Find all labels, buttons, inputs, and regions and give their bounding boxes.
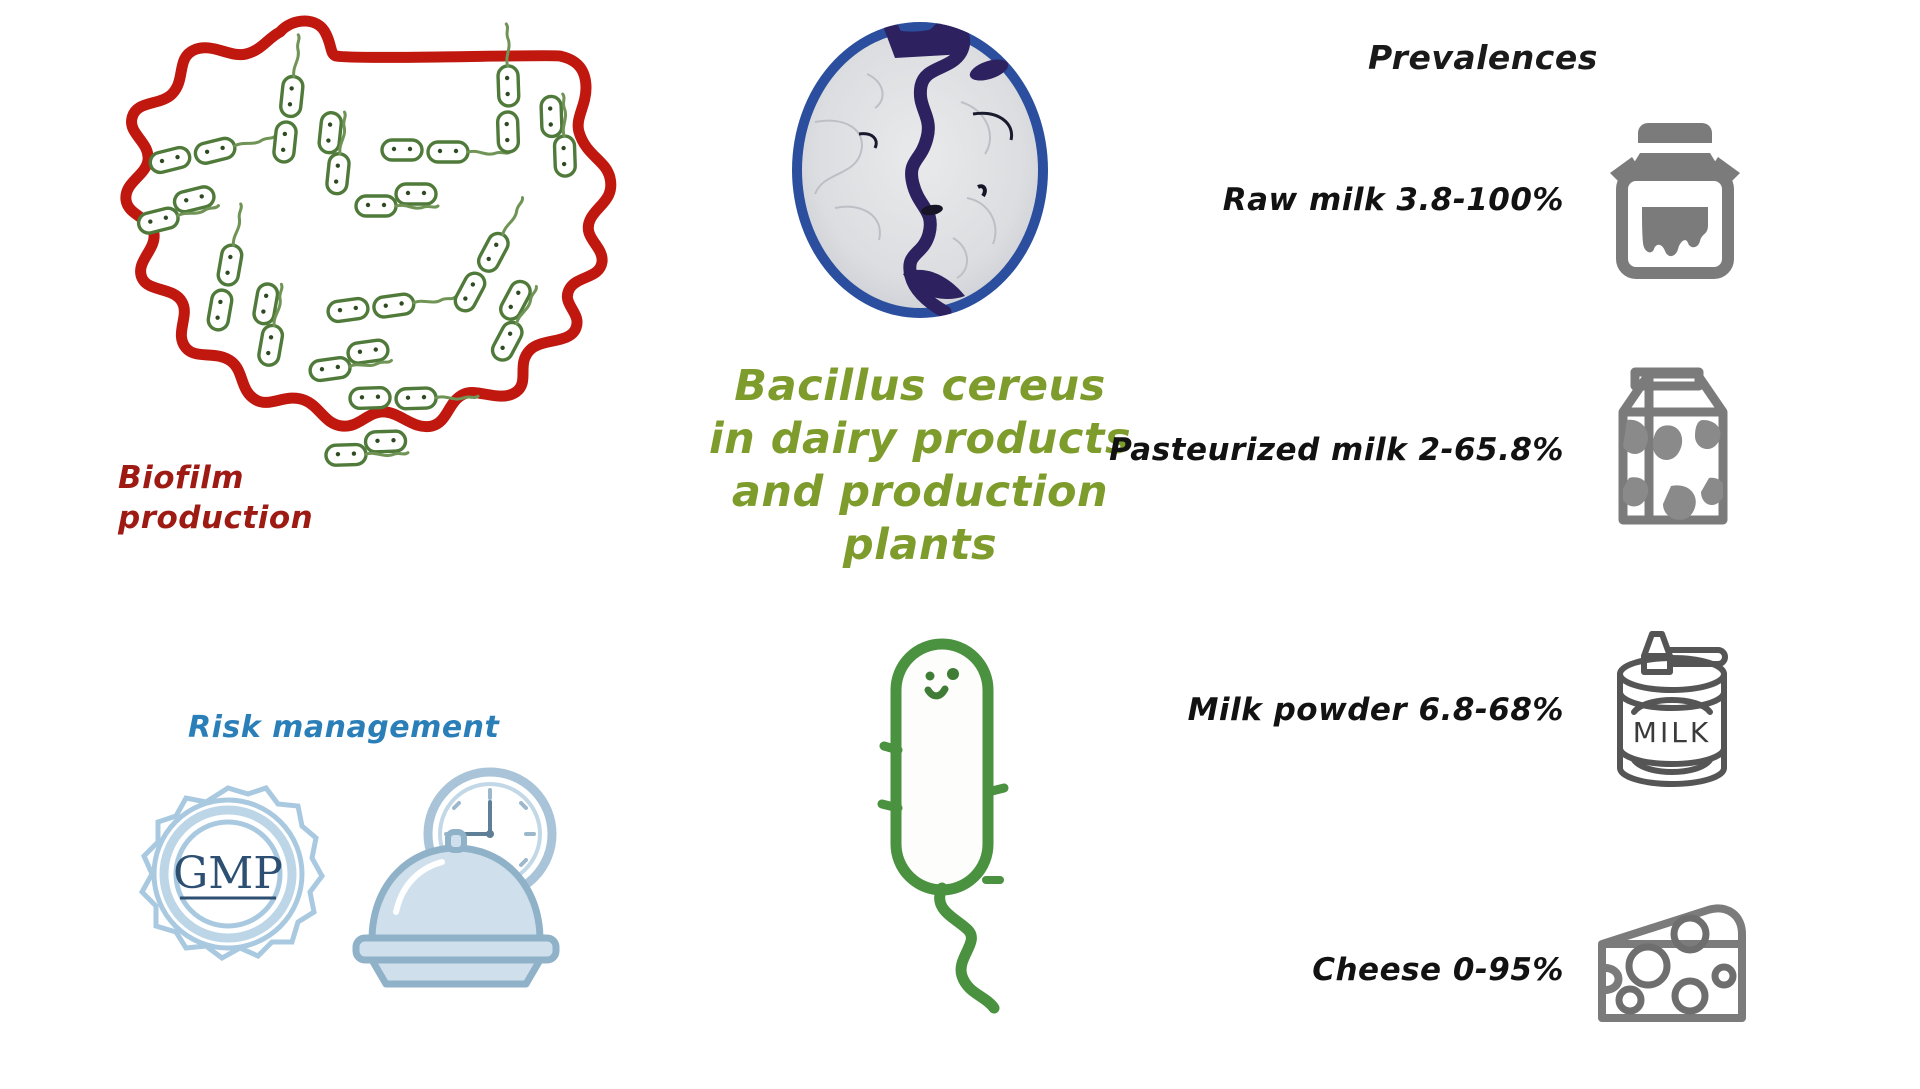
- prevalence-row: Milk powder 6.8-68% MILK: [1000, 620, 1760, 800]
- milk-powder-tin-icon: MILK: [1590, 620, 1760, 800]
- milk-powder-tin-label: MILK: [1633, 716, 1711, 749]
- prevalence-row: Cheese 0-95%: [1000, 880, 1760, 1060]
- bacteria-cluster: [166, 196, 342, 373]
- graphical-abstract: Biofilm production Risk management GMP: [0, 0, 1920, 1089]
- biofilm-panel: Biofilm production: [30, 10, 650, 530]
- prevalences-heading: Prevalences: [1368, 38, 1598, 77]
- bacteria-cluster: [454, 17, 617, 182]
- cheese-wedge-icon: [1590, 880, 1760, 1060]
- gmp-seal-icon: GMP: [118, 772, 338, 992]
- risk-management-panel: Risk management GMP: [100, 710, 660, 1070]
- gmp-seal-text: GMP: [173, 848, 283, 899]
- biofilm-label-line-1: Biofilm: [118, 458, 313, 498]
- milk-can-icon: [1590, 110, 1760, 290]
- biofilm-label-line-2: production: [118, 498, 313, 538]
- prevalence-row: Raw milk 3.8-100%: [1000, 110, 1760, 290]
- prevalence-label: Milk powder 6.8-68%: [1188, 692, 1590, 728]
- milk-carton-icon: [1590, 360, 1760, 540]
- prevalence-label: Pasteurized milk 2-65.8%: [1109, 432, 1590, 468]
- prevalence-label: Cheese 0-95%: [1312, 952, 1590, 988]
- risk-management-label: Risk management: [188, 710, 499, 745]
- prevalence-row: Pasteurized milk 2-65.8%: [1000, 360, 1760, 540]
- bacteria-cluster: [134, 109, 280, 252]
- bacteria-cluster: [420, 188, 601, 368]
- biofilm-bacteria-clusters: [30, 10, 650, 470]
- prevalence-label: Raw milk 3.8-100%: [1223, 182, 1590, 218]
- biofilm-label: Biofilm production: [118, 458, 313, 538]
- bacteria-cluster: [231, 27, 404, 201]
- cloche-and-clock-icon: [350, 762, 580, 992]
